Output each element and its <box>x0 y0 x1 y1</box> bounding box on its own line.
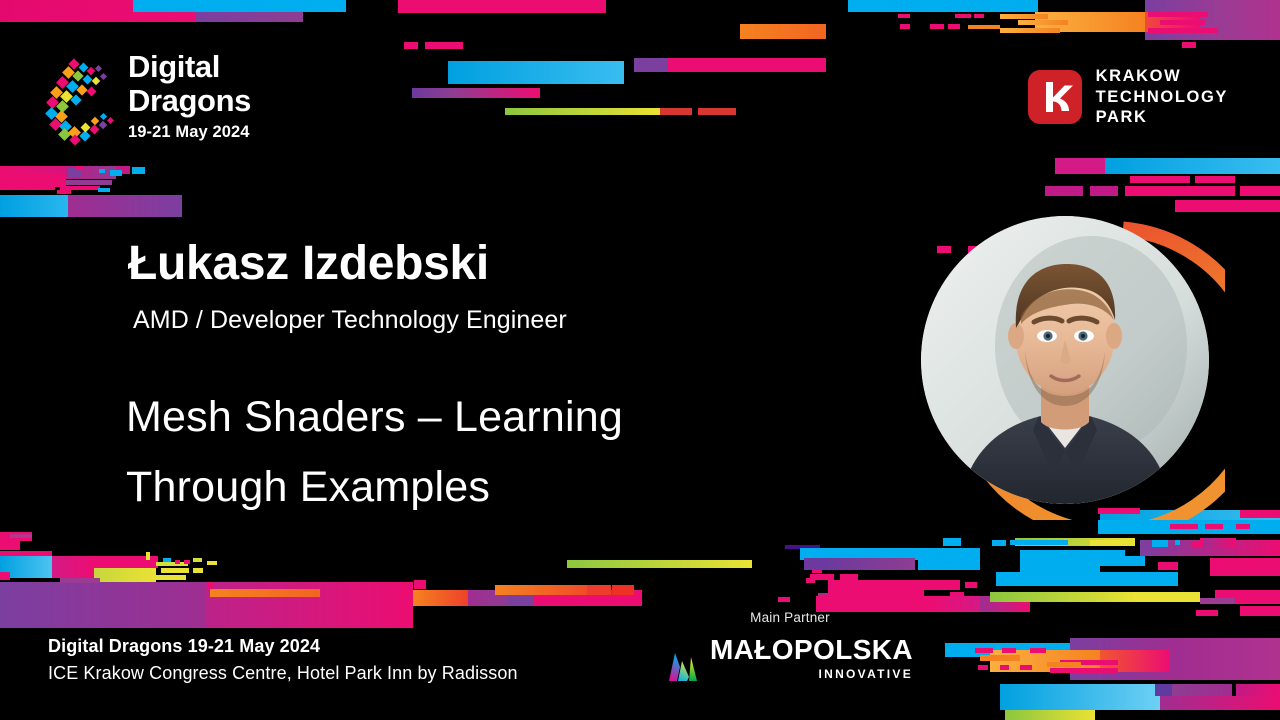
glitch-bar <box>1240 510 1280 518</box>
glitch-bar <box>1236 684 1280 696</box>
glitch-bar <box>94 568 156 582</box>
main-partner-block: Main Partner <box>640 610 940 681</box>
glitch-bar <box>918 560 980 570</box>
glitch-bar <box>1020 665 1032 670</box>
glitch-bar <box>1118 572 1178 586</box>
talk-title: Mesh Shaders – Learning Through Examples <box>126 382 826 522</box>
glitch-bar <box>110 170 122 176</box>
glitch-bar <box>920 548 980 560</box>
glitch-bar <box>163 558 171 562</box>
glitch-bar <box>133 0 346 12</box>
glitch-bar <box>1090 186 1118 196</box>
glitch-bar <box>804 558 828 570</box>
glitch-bar <box>974 14 984 18</box>
glitch-bar <box>0 186 55 190</box>
glitch-bar <box>992 540 1006 546</box>
glitch-bar <box>1047 662 1081 667</box>
glitch-bar <box>1210 558 1280 576</box>
krakow-technology-park-logo: KRAKOW TECHNOLOGY PARK <box>1028 66 1228 128</box>
glitch-bar <box>1158 562 1178 570</box>
glitch-bar <box>1050 668 1118 673</box>
glitch-bar <box>495 585 590 595</box>
glitch-bar <box>52 556 94 578</box>
glitch-bar <box>1000 684 1162 710</box>
glitch-bar <box>1025 562 1075 572</box>
glitch-bar <box>698 108 736 115</box>
glitch-bar <box>1175 540 1180 545</box>
glitch-bar <box>210 589 320 597</box>
glitch-bar <box>1148 28 1218 33</box>
glitch-bar <box>132 167 145 174</box>
glitch-bar <box>1010 540 1068 545</box>
brand-line-2: Dragons <box>128 84 251 118</box>
glitch-bar <box>0 195 68 217</box>
glitch-bar <box>0 582 212 628</box>
glitch-bar <box>68 195 182 217</box>
glitch-bar <box>920 580 960 590</box>
glitch-bar <box>66 180 112 185</box>
glitch-bar <box>1105 158 1280 174</box>
glitch-bar <box>668 58 826 72</box>
digital-dragons-logo: Digital Dragons 19-21 May 2024 <box>40 52 290 152</box>
glitch-bar <box>943 538 961 546</box>
glitch-bar <box>996 572 1121 586</box>
glitch-bar <box>20 180 65 185</box>
glitch-bar <box>1090 540 1128 546</box>
malopolska-m-mark-icon <box>667 651 701 681</box>
digital-dragons-pixel-swirl-icon <box>40 54 118 150</box>
venue-event-line: Digital Dragons 19-21 May 2024 <box>48 636 518 657</box>
glitch-bar <box>1160 696 1280 710</box>
glitch-bar <box>955 14 971 18</box>
glitch-bar <box>1196 610 1218 616</box>
glitch-bar <box>975 648 993 653</box>
malopolska-tagline: INNOVATIVE <box>710 667 913 681</box>
glitch-bar <box>930 24 944 29</box>
glitch-bar <box>1000 665 1009 670</box>
glitch-bar <box>978 665 988 670</box>
glitch-bar <box>1195 176 1235 183</box>
glitch-bar <box>152 575 186 580</box>
glitch-bar <box>193 568 203 573</box>
speaker-photo <box>921 216 1209 504</box>
glitch-bar <box>1005 710 1095 720</box>
speaker-role: AMD / Developer Technology Engineer <box>133 306 567 335</box>
glitch-bar <box>1172 684 1232 696</box>
glitch-bar <box>567 560 752 568</box>
glitch-bar <box>1055 158 1105 174</box>
glitch-bar <box>1135 592 1200 602</box>
glitch-bar <box>965 582 977 588</box>
glitch-bar <box>10 534 32 538</box>
glitch-bar <box>1240 606 1280 616</box>
glitch-bar <box>1203 538 1235 548</box>
venue-location-line: ICE Krakow Congress Centre, Hotel Park I… <box>48 663 518 684</box>
glitch-bar <box>448 61 624 84</box>
glitch-bar <box>207 561 217 565</box>
glitch-bar <box>1045 186 1083 196</box>
glitch-bar <box>1000 28 1060 33</box>
glitch-bar <box>980 655 1020 661</box>
krakow-technology-park-wordmark: KRAKOW TECHNOLOGY PARK <box>1096 66 1228 128</box>
main-partner-label: Main Partner <box>640 610 940 625</box>
glitch-bar <box>76 166 84 170</box>
glitch-bar <box>1170 524 1198 529</box>
krakow-technology-park-k-icon <box>1028 70 1082 124</box>
glitch-bar <box>1200 598 1235 604</box>
glitch-bar <box>1152 540 1168 547</box>
glitch-bar <box>1160 20 1205 25</box>
ktp-line-1: KRAKOW <box>1096 66 1228 87</box>
glitch-bar <box>57 190 71 194</box>
glitch-bar <box>413 590 471 606</box>
brand-line-1: Digital <box>128 50 251 84</box>
glitch-bar <box>825 558 915 570</box>
glitch-bar <box>1002 648 1016 653</box>
glitch-bar <box>1125 186 1235 196</box>
glitch-bar <box>1148 12 1208 17</box>
malopolska-wordmark: MAŁOPOLSKA INNOVATIVE <box>710 636 913 681</box>
glitch-bar <box>425 42 463 49</box>
glitch-bar <box>412 88 452 98</box>
glitch-bar <box>848 0 1038 12</box>
glitch-bar <box>634 58 670 72</box>
glitch-bar <box>660 108 692 115</box>
glitch-bar <box>404 42 418 49</box>
glitch-bar <box>1030 648 1046 653</box>
glitch-bar <box>414 580 426 589</box>
glitch-bar <box>1000 14 1048 19</box>
glitch-bar <box>193 558 202 562</box>
glitch-bar <box>1018 20 1068 25</box>
glitch-bar <box>1225 0 1280 40</box>
digital-dragons-wordmark: Digital Dragons 19-21 May 2024 <box>128 50 251 142</box>
glitch-bar <box>740 24 826 39</box>
brand-dates: 19-21 May 2024 <box>128 122 251 142</box>
malopolska-name: MAŁOPOLSKA <box>710 636 913 664</box>
talk-title-line-2: Through Examples <box>126 452 826 522</box>
talk-title-line-1: Mesh Shaders – Learning <box>126 382 826 452</box>
glitch-bar <box>948 24 960 29</box>
glitch-bar <box>98 188 110 192</box>
ktp-line-2: TECHNOLOGY <box>1096 87 1228 108</box>
malopolska-logo: MAŁOPOLSKA INNOVATIVE <box>640 636 940 681</box>
glitch-bar <box>778 597 790 602</box>
venue-info: Digital Dragons 19-21 May 2024 ICE Krako… <box>48 636 518 684</box>
glitch-bar <box>398 0 606 13</box>
glitch-bar <box>1236 524 1250 529</box>
glitch-bar <box>184 560 190 564</box>
glitch-bar <box>1130 176 1190 183</box>
glitch-bar <box>968 25 1000 29</box>
glitch-bar <box>990 592 1135 602</box>
glitch-bar <box>60 578 100 583</box>
glitch-bar <box>587 585 611 595</box>
glitch-bar <box>1182 42 1196 48</box>
speaker-portrait <box>905 200 1225 520</box>
ktp-line-3: PARK <box>1096 107 1228 128</box>
speaker-name: Łukasz Izdebski <box>128 236 489 291</box>
glitch-bar <box>900 24 910 29</box>
presentation-slide: Digital Dragons 19-21 May 2024 KRAKOW TE… <box>0 0 1280 720</box>
glitch-bar <box>898 14 910 18</box>
glitch-bar <box>1240 186 1280 196</box>
glitch-bar <box>208 582 214 589</box>
glitch-bar <box>612 585 634 595</box>
glitch-bar <box>452 88 540 98</box>
glitch-bar <box>99 169 105 173</box>
glitch-bar <box>146 552 150 560</box>
glitch-bar <box>161 568 189 573</box>
glitch-bar <box>0 572 10 580</box>
glitch-bar <box>0 541 20 550</box>
glitch-bar <box>175 560 180 564</box>
glitch-bar <box>1205 524 1223 529</box>
glitch-bar <box>1100 556 1145 566</box>
glitch-bar <box>505 108 660 115</box>
